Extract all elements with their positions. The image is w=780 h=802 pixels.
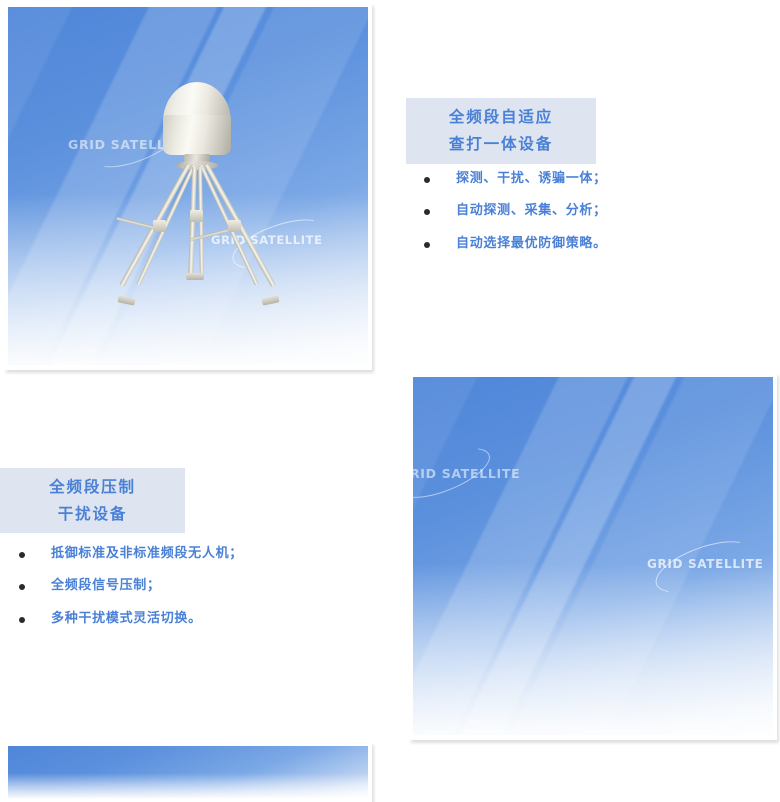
tripod-clamp-right — [228, 220, 241, 232]
bullet-dot-icon — [424, 177, 430, 183]
feature-text: 自动探测、采集、分析； — [456, 203, 607, 219]
feature-text: 抵御标准及非标准频段无人机； — [51, 546, 243, 562]
list-item: 自动选择最优防御策略。 — [424, 236, 764, 252]
feature-text: 全频段信号压制； — [51, 578, 161, 594]
feature-list-jamming-device: 抵御标准及非标准频段无人机； 全频段信号压制； 多种干扰模式灵活切换。 — [19, 546, 379, 643]
feature-text: 自动选择最优防御策略。 — [456, 236, 607, 252]
tripod-foot-center — [186, 273, 204, 280]
photo-background-gradient — [8, 746, 368, 798]
product-photo-frame-jamming-device: GRID SATELLITE GRID SATELLITE — [409, 373, 777, 740]
bullet-dot-icon — [19, 617, 25, 623]
title-line-1: 全频段自适应 — [449, 104, 553, 131]
title-line-2: 干扰设备 — [58, 501, 127, 528]
jammer-hardware-layer — [413, 377, 773, 735]
feature-text: 探测、干扰、诱骗一体； — [456, 171, 607, 187]
jammer-latch-bottom — [413, 497, 773, 523]
product-photo-frame-next — [4, 742, 372, 802]
bullet-dot-icon — [424, 209, 430, 215]
list-item: 多种干扰模式灵活切换。 — [19, 611, 379, 627]
list-item: 探测、干扰、诱骗一体； — [424, 171, 764, 187]
title-line-1: 全频段压制 — [49, 474, 136, 501]
title-box-jamming-device: 全频段压制 干扰设备 — [0, 468, 185, 533]
list-item: 抵御标准及非标准频段无人机； — [19, 546, 379, 562]
feature-text: 多种干扰模式灵活切换。 — [51, 611, 202, 627]
jammer-antenna-4 — [413, 377, 773, 467]
jammer-latch-middle — [413, 467, 773, 497]
list-item: 全频段信号压制； — [19, 578, 379, 594]
tripod-clamp-left — [153, 220, 166, 232]
list-item: 自动探测、采集、分析； — [424, 203, 764, 219]
product-photo-frame-detection-device: GRID SATELLITE GRID SATELLITE — [4, 3, 372, 370]
title-line-2: 查打一体设备 — [449, 131, 553, 158]
product-image-next — [8, 746, 368, 798]
tripod-clamp-center — [190, 210, 203, 222]
bullet-dot-icon — [424, 242, 430, 248]
bullet-dot-icon — [19, 584, 25, 590]
product-image-detection-device: GRID SATELLITE GRID SATELLITE — [8, 7, 368, 365]
feature-list-detection-device: 探测、干扰、诱骗一体； 自动探测、采集、分析； 自动选择最优防御策略。 — [424, 171, 764, 268]
title-box-detection-device: 全频段自适应 查打一体设备 — [406, 98, 596, 164]
bullet-dot-icon — [19, 552, 25, 558]
antenna-dome-body — [163, 115, 231, 155]
